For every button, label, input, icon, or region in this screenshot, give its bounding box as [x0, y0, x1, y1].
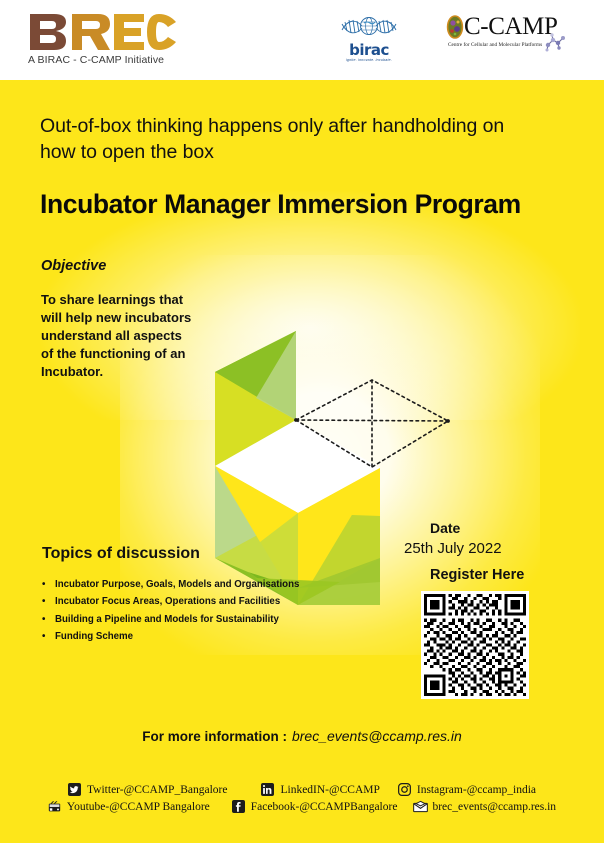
social-label: Youtube-@CCAMP Bangalore	[67, 801, 210, 813]
objective-heading: Objective	[41, 258, 226, 274]
hero-tagline-line-1: Out-of-box thinking happens only after h…	[40, 114, 570, 140]
social-link-youtube[interactable]: Youtube-@CCAMP Bangalore	[48, 800, 210, 813]
objective-line: of the functioning of an	[41, 345, 226, 363]
social-link-email[interactable]: brec_events@ccamp.res.in	[413, 800, 556, 813]
bullet-icon: •	[42, 596, 55, 608]
ccamp-subtitle: Centre for Cellular and Molecular Platfo…	[448, 42, 542, 48]
qr-code-icon[interactable]	[421, 591, 529, 699]
date-value: 25th July 2022	[404, 540, 574, 557]
birac-logo: birac ignite. innovate. incubate.	[338, 14, 400, 63]
hero-tagline: Out-of-box thinking happens only after h…	[40, 114, 570, 166]
objective-section: Objective To share learnings that will h…	[41, 258, 226, 381]
register-section: Register Here	[410, 567, 560, 699]
birac-wordmark: birac	[338, 43, 400, 58]
objective-line: understand all aspects	[41, 327, 226, 345]
social-label: Twitter-@CCAMP_Bangalore	[87, 784, 228, 796]
program-title: Incubator Manager Immersion Program	[40, 190, 585, 219]
linkedin-icon	[261, 783, 274, 796]
poster-body: Out-of-box thinking happens only after h…	[0, 80, 604, 843]
topics-heading: Topics of discussion	[42, 545, 402, 563]
social-link-instagram[interactable]: Instagram-@ccamp_india	[398, 783, 536, 796]
social-media-footer: Twitter-@CCAMP_Bangalore LinkedIN-@CCAMP	[0, 783, 604, 817]
objective-line: will help new incubators	[41, 309, 226, 327]
header-logo-band: A BIRAC - C-CAMP Initiative	[0, 0, 604, 80]
objective-line: Incubator.	[41, 363, 226, 381]
contact-info-line: For more information :brec_events@ccamp.…	[0, 728, 604, 746]
bullet-icon: •	[42, 579, 55, 591]
social-label: Facebook-@CCAMPBangalore	[251, 801, 398, 813]
social-label: brec_events@ccamp.res.in	[432, 801, 556, 813]
brec-logo: A BIRAC - C-CAMP Initiative	[28, 12, 178, 66]
social-row-2: Youtube-@CCAMP Bangalore Facebook-@CCAMP…	[0, 800, 604, 813]
objective-text: To share learnings that will help new in…	[41, 291, 226, 381]
facebook-icon	[232, 800, 245, 813]
birac-tagline: ignite. innovate. incubate.	[338, 59, 400, 63]
topic-list-item: • Incubator Purpose, Goals, Models and O…	[42, 579, 402, 591]
brec-tagline: A BIRAC - C-CAMP Initiative	[28, 54, 178, 66]
bullet-icon: •	[42, 614, 55, 626]
bullet-icon: •	[42, 631, 55, 643]
topic-list-item: • Building a Pipeline and Models for Sus…	[42, 614, 402, 626]
topic-list-item: • Funding Scheme	[42, 631, 402, 643]
social-link-twitter[interactable]: Twitter-@CCAMP_Bangalore	[68, 783, 228, 796]
contact-email[interactable]: brec_events@ccamp.res.in	[292, 728, 462, 744]
topic-label: Building a Pipeline and Models for Susta…	[55, 614, 279, 626]
date-label: Date	[430, 520, 574, 536]
cell-icon	[446, 15, 464, 39]
hero-tagline-line-2: how to open the box	[40, 140, 570, 166]
twitter-icon	[68, 783, 81, 796]
topic-label: Incubator Focus Areas, Operations and Fa…	[55, 596, 280, 608]
register-heading: Register Here	[430, 567, 560, 583]
molecule-icon	[544, 32, 566, 52]
topic-label: Incubator Purpose, Goals, Models and Org…	[55, 579, 299, 591]
ccamp-logo: C-CAMP Centre for Cellular and Molecular…	[446, 14, 581, 52]
objective-line: To share learnings that	[41, 291, 226, 309]
contact-label: For more information :	[142, 729, 287, 744]
brec-wordmark-icon	[28, 12, 178, 52]
youtube-icon	[48, 800, 61, 813]
social-label: Instagram-@ccamp_india	[417, 784, 536, 796]
social-link-facebook[interactable]: Facebook-@CCAMPBangalore	[232, 800, 398, 813]
poster-canvas: A BIRAC - C-CAMP Initiative	[0, 0, 604, 843]
topic-label: Funding Scheme	[55, 631, 133, 643]
social-link-linkedin[interactable]: LinkedIN-@CCAMP	[261, 783, 379, 796]
social-row-1: Twitter-@CCAMP_Bangalore LinkedIN-@CCAMP	[0, 783, 604, 796]
social-label: LinkedIN-@CCAMP	[280, 784, 379, 796]
topics-section: Topics of discussion • Incubator Purpose…	[42, 545, 402, 649]
instagram-icon	[398, 783, 411, 796]
email-icon	[413, 800, 426, 813]
date-section: Date 25th July 2022	[404, 520, 574, 557]
topic-list-item: • Incubator Focus Areas, Operations and …	[42, 596, 402, 608]
